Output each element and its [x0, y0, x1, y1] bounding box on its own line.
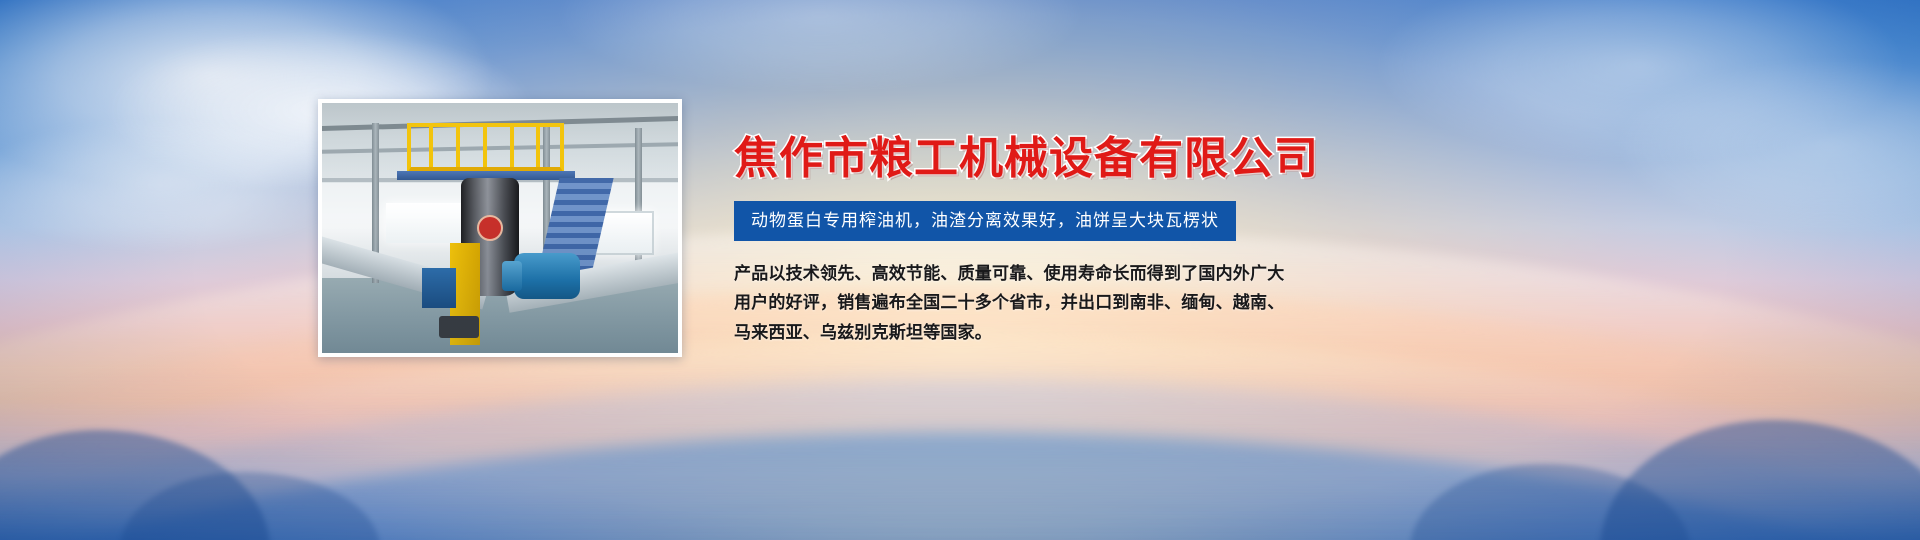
promo-banner: 焦作市粮工机械设备有限公司 动物蛋白专用榨油机，油渣分离效果好，油饼呈大块瓦楞状… [0, 0, 1920, 540]
banner-copy: 焦作市粮工机械设备有限公司 动物蛋白专用榨油机，油渣分离效果好，油饼呈大块瓦楞状… [734, 136, 1434, 347]
photo-shading-overlay [322, 103, 678, 353]
company-title: 焦作市粮工机械设备有限公司 [734, 136, 1434, 182]
description-paragraph: 产品以技术领先、高效节能、质量可靠、使用寿命长而得到了国内外广大用户的好评，销售… [734, 259, 1294, 347]
subtitle-bar: 动物蛋白专用榨油机，油渣分离效果好，油饼呈大块瓦楞状 [734, 201, 1236, 241]
product-photo [322, 103, 678, 353]
product-photo-frame [318, 99, 682, 357]
